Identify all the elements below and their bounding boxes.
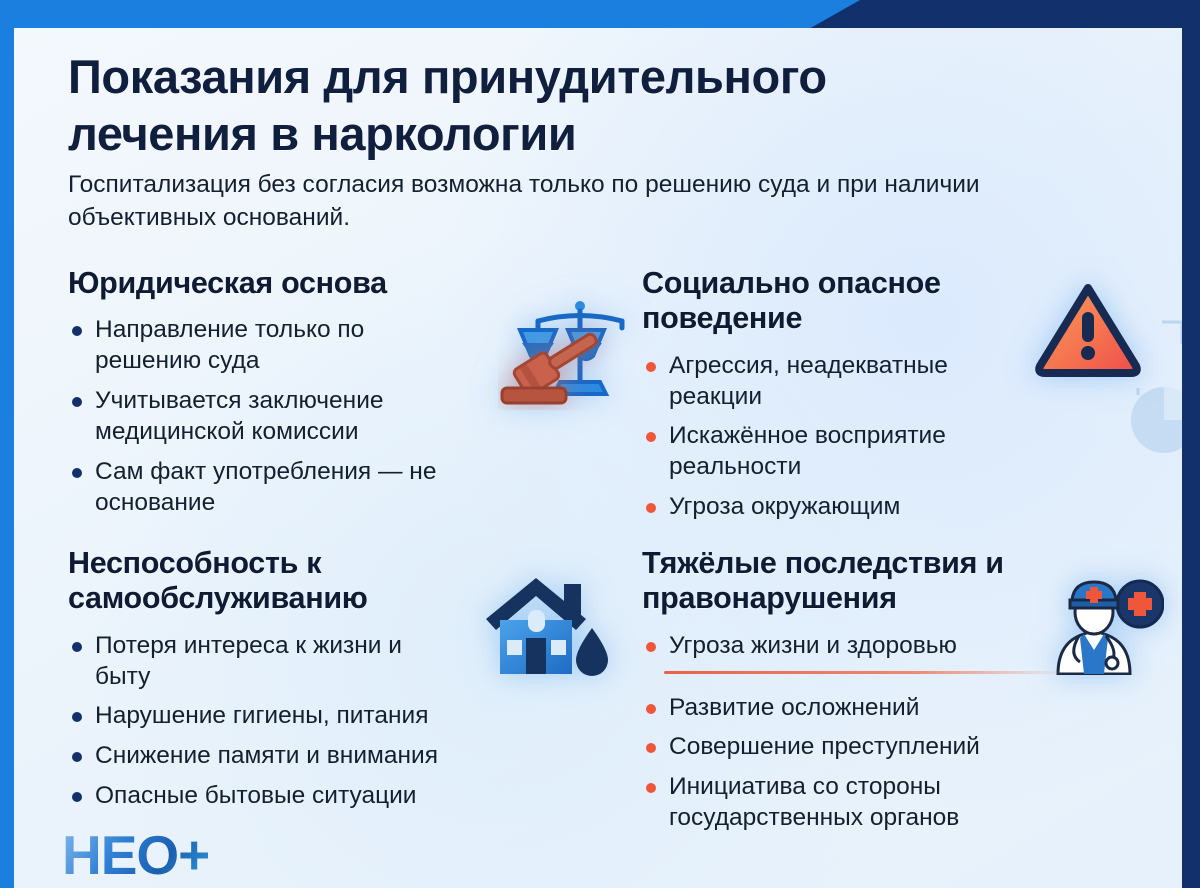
section-legal-basis: Юридическая основа Направление только по… (68, 266, 628, 528)
bullet-list: Агрессия, неадекватные реакции Искажённо… (642, 351, 1182, 523)
section-self-care-inability: Неспособность к самообслуживанию Потеря … (68, 546, 638, 821)
list-item: Снижение памяти и внимания (68, 741, 538, 772)
section-heading: Социально опасное поведение (642, 266, 1022, 337)
list-item: Инициатива со стороны государственных ор… (642, 772, 1112, 834)
infographic-poster: Показания для принудительного лечения в … (0, 0, 1200, 888)
page-title: Показания для принудительного лечения в … (68, 48, 1028, 163)
list-item: Угроза жизни и здоровью (642, 631, 1112, 662)
list-item: Потеря интереса к жизни и быту (68, 631, 463, 693)
list-item: Угроза окружающим (642, 492, 1112, 523)
left-accent-bar (0, 0, 14, 888)
list-item: Развитие осложнений (642, 693, 1112, 724)
section-divider (664, 671, 1068, 674)
brand-logo: НЕО+ (62, 828, 209, 883)
section-heading: Тяжёлые последствия и правонарушения (642, 546, 1062, 617)
section-severe-consequences: Тяжёлые последствия и правонарушения Угр… (642, 546, 1182, 843)
list-item: Опасные бытовые ситуации (68, 781, 538, 812)
section-heading: Юридическая основа (68, 266, 498, 301)
list-item: Совершение преступлений (642, 732, 1112, 763)
bullet-list: Потеря интереса к жизни и быту Нарушение… (68, 631, 638, 812)
list-item: Направление только по решению суда (68, 315, 418, 377)
bullet-list: Развитие осложнений Совершение преступле… (642, 693, 1182, 834)
list-item: Сам факт употребления — не основание (68, 457, 463, 519)
list-item: Искажённое восприятие реальности (642, 421, 1037, 483)
bullet-list: Угроза жизни и здоровью (642, 631, 1182, 662)
bullet-list: Направление только по решению суда Учиты… (68, 315, 628, 518)
right-navy-bar (1182, 0, 1200, 888)
list-item: Нарушение гигиены, питания (68, 701, 538, 732)
list-item: Учитывается заключение медицинской комис… (68, 386, 463, 448)
page-subtitle: Госпитализация без согласия возможна тол… (68, 168, 1018, 235)
section-heading: Неспособность к самообслуживанию (68, 546, 498, 617)
poster-card: Показания для принудительного лечения в … (14, 28, 1182, 888)
list-item: Агрессия, неадекватные реакции (642, 351, 1037, 413)
section-dangerous-behavior: Социально опасное поведение Агрессия, не… (642, 266, 1182, 532)
